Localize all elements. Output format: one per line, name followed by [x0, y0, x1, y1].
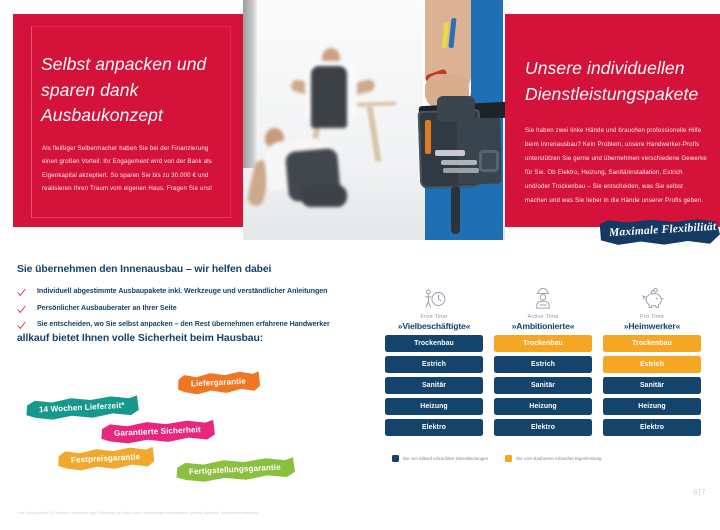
list-item: Persönlicher Ausbauberater an Ihrer Seit…: [17, 302, 347, 319]
check-icon: [17, 288, 26, 297]
package-subtitle: Active Time: [494, 314, 592, 320]
hero-panel-right: Unsere individuellen Dienstleistungspake…: [505, 14, 720, 227]
package-cell[interactable]: Heizung: [385, 398, 483, 415]
package-column-heimwerker: Pro Time »Heimwerker« Trockenbau Estrich…: [603, 282, 701, 436]
legend-item-dienstleistungen: Die von allkauf erbrachten Dienstleistun…: [392, 455, 488, 462]
piggy-bank-icon: [603, 282, 701, 310]
photo-fg-hammer-handle: [451, 186, 460, 234]
package-name: »Ambitionierte«: [494, 321, 592, 331]
package-cell[interactable]: Estrich: [603, 356, 701, 373]
package-cell[interactable]: Trockenbau: [385, 335, 483, 352]
package-cell[interactable]: Elektro: [385, 419, 483, 436]
package-cell[interactable]: Sanitär: [385, 377, 483, 394]
badge-liefergarantie: Liefergarantie: [176, 370, 260, 396]
check-icon: [17, 321, 26, 330]
hero-section: Selbst anpacken und sparen dank Ausbauko…: [0, 0, 720, 240]
package-cell[interactable]: Elektro: [603, 419, 701, 436]
service-packages: Free Time »Vielbeschäftigte« Trockenbau …: [385, 282, 705, 436]
badge-garantierte-sicherheit: Garantierte Sicherheit: [100, 419, 216, 446]
innenausbau-heading: Sie übernehmen den Innenausbau – wir hel…: [17, 264, 271, 275]
photo-foreground-tradesman: [395, 0, 505, 240]
maximale-flexibilitaet-banner: Maximale Flexibilität: [596, 218, 720, 246]
list-item-label: Sie entscheiden, wo Sie selbst anpacken …: [37, 320, 330, 328]
package-name: »Heimwerker«: [603, 321, 701, 331]
banner-label: Maximale Flexibilität: [609, 221, 717, 239]
badge-fertigstellungsgarantie: Fertigstellungsgarantie: [175, 456, 296, 484]
legend-label: Die vom Bauherren erbrachte Eigenleistun…: [516, 456, 601, 461]
list-item-label: Persönlicher Ausbauberater an Ihrer Seit…: [37, 304, 177, 312]
photo-worker1-overalls: [311, 66, 347, 128]
package-cell[interactable]: Sanitär: [603, 377, 701, 394]
hero-photo: [243, 0, 505, 240]
package-legend: Die von allkauf erbrachten Dienstleistun…: [392, 455, 601, 462]
person-clock-icon: [385, 282, 483, 310]
hero-panel-left: Selbst anpacken und sparen dank Ausbauko…: [13, 14, 243, 227]
legend-swatch-navy: [392, 455, 399, 462]
check-icon: [17, 305, 26, 314]
package-name: »Vielbeschäftigte«: [385, 321, 483, 331]
hero-left-title: Selbst anpacken und sparen dank Ausbauko…: [41, 52, 231, 129]
package-cell[interactable]: Heizung: [494, 398, 592, 415]
checklist: Individuell abgestimmte Ausbaupakete ink…: [17, 285, 347, 335]
package-cell[interactable]: Trockenbau: [494, 335, 592, 352]
photo-fg-tool-plier: [441, 160, 477, 165]
badge-lieferzeit: 14 Wochen Lieferzeit*: [25, 394, 140, 422]
footnote: * im Durchschnitt 14 Wochen Lieferzeit n…: [17, 510, 259, 515]
package-cell[interactable]: Estrich: [385, 356, 483, 373]
brochure-page: Selbst anpacken und sparen dank Ausbauko…: [0, 0, 720, 530]
photo-fg-tape-measure: [479, 150, 499, 172]
package-subtitle: Pro Time: [603, 314, 701, 320]
photo-fg-drill: [437, 96, 475, 122]
photo-fg-tool-screwdriver: [425, 120, 431, 154]
hero-right-title: Unsere individuellen Dienstleistungspake…: [525, 56, 715, 107]
package-cell[interactable]: Sanitär: [494, 377, 592, 394]
photo-fg-tool-chisel: [443, 168, 479, 173]
legend-item-eigenleistung: Die vom Bauherren erbrachte Eigenleistun…: [505, 455, 601, 462]
package-subtitle: Free Time: [385, 314, 483, 320]
package-column-ambitionierte: Active Time »Ambitionierte« Trockenbau E…: [494, 282, 592, 436]
list-item: Individuell abgestimmte Ausbaupakete ink…: [17, 285, 347, 302]
person-helmet-icon: [494, 282, 592, 310]
package-columns: Free Time »Vielbeschäftigte« Trockenbau …: [385, 282, 705, 436]
legend-label: Die von allkauf erbrachten Dienstleistun…: [403, 456, 488, 461]
page-number: 6|7: [693, 488, 706, 497]
package-cell[interactable]: Estrich: [494, 356, 592, 373]
hero-left-body: Als fleißiger Selbermacher haben Sie bei…: [42, 142, 222, 195]
hero-right-body: Sie haben zwei linke Hände und brauchen …: [525, 124, 707, 208]
list-item-label: Individuell abgestimmte Ausbaupakete ink…: [37, 287, 327, 295]
guarantee-badges: Liefergarantie 14 Wochen Lieferzeit* Gar…: [0, 366, 340, 484]
photo-fg-tool-wrench: [435, 150, 465, 156]
legend-swatch-orange: [505, 455, 512, 462]
package-cell[interactable]: Trockenbau: [603, 335, 701, 352]
package-cell[interactable]: Elektro: [494, 419, 592, 436]
photo-worker2-leg: [301, 185, 347, 207]
package-cell[interactable]: Heizung: [603, 398, 701, 415]
sicherheit-heading: allkauf bietet Ihnen volle Sicherheit be…: [17, 333, 263, 344]
badge-festpreisgarantie: Festpreisgarantie: [56, 445, 154, 472]
package-column-vielbeschaeftigte: Free Time »Vielbeschäftigte« Trockenbau …: [385, 282, 483, 436]
